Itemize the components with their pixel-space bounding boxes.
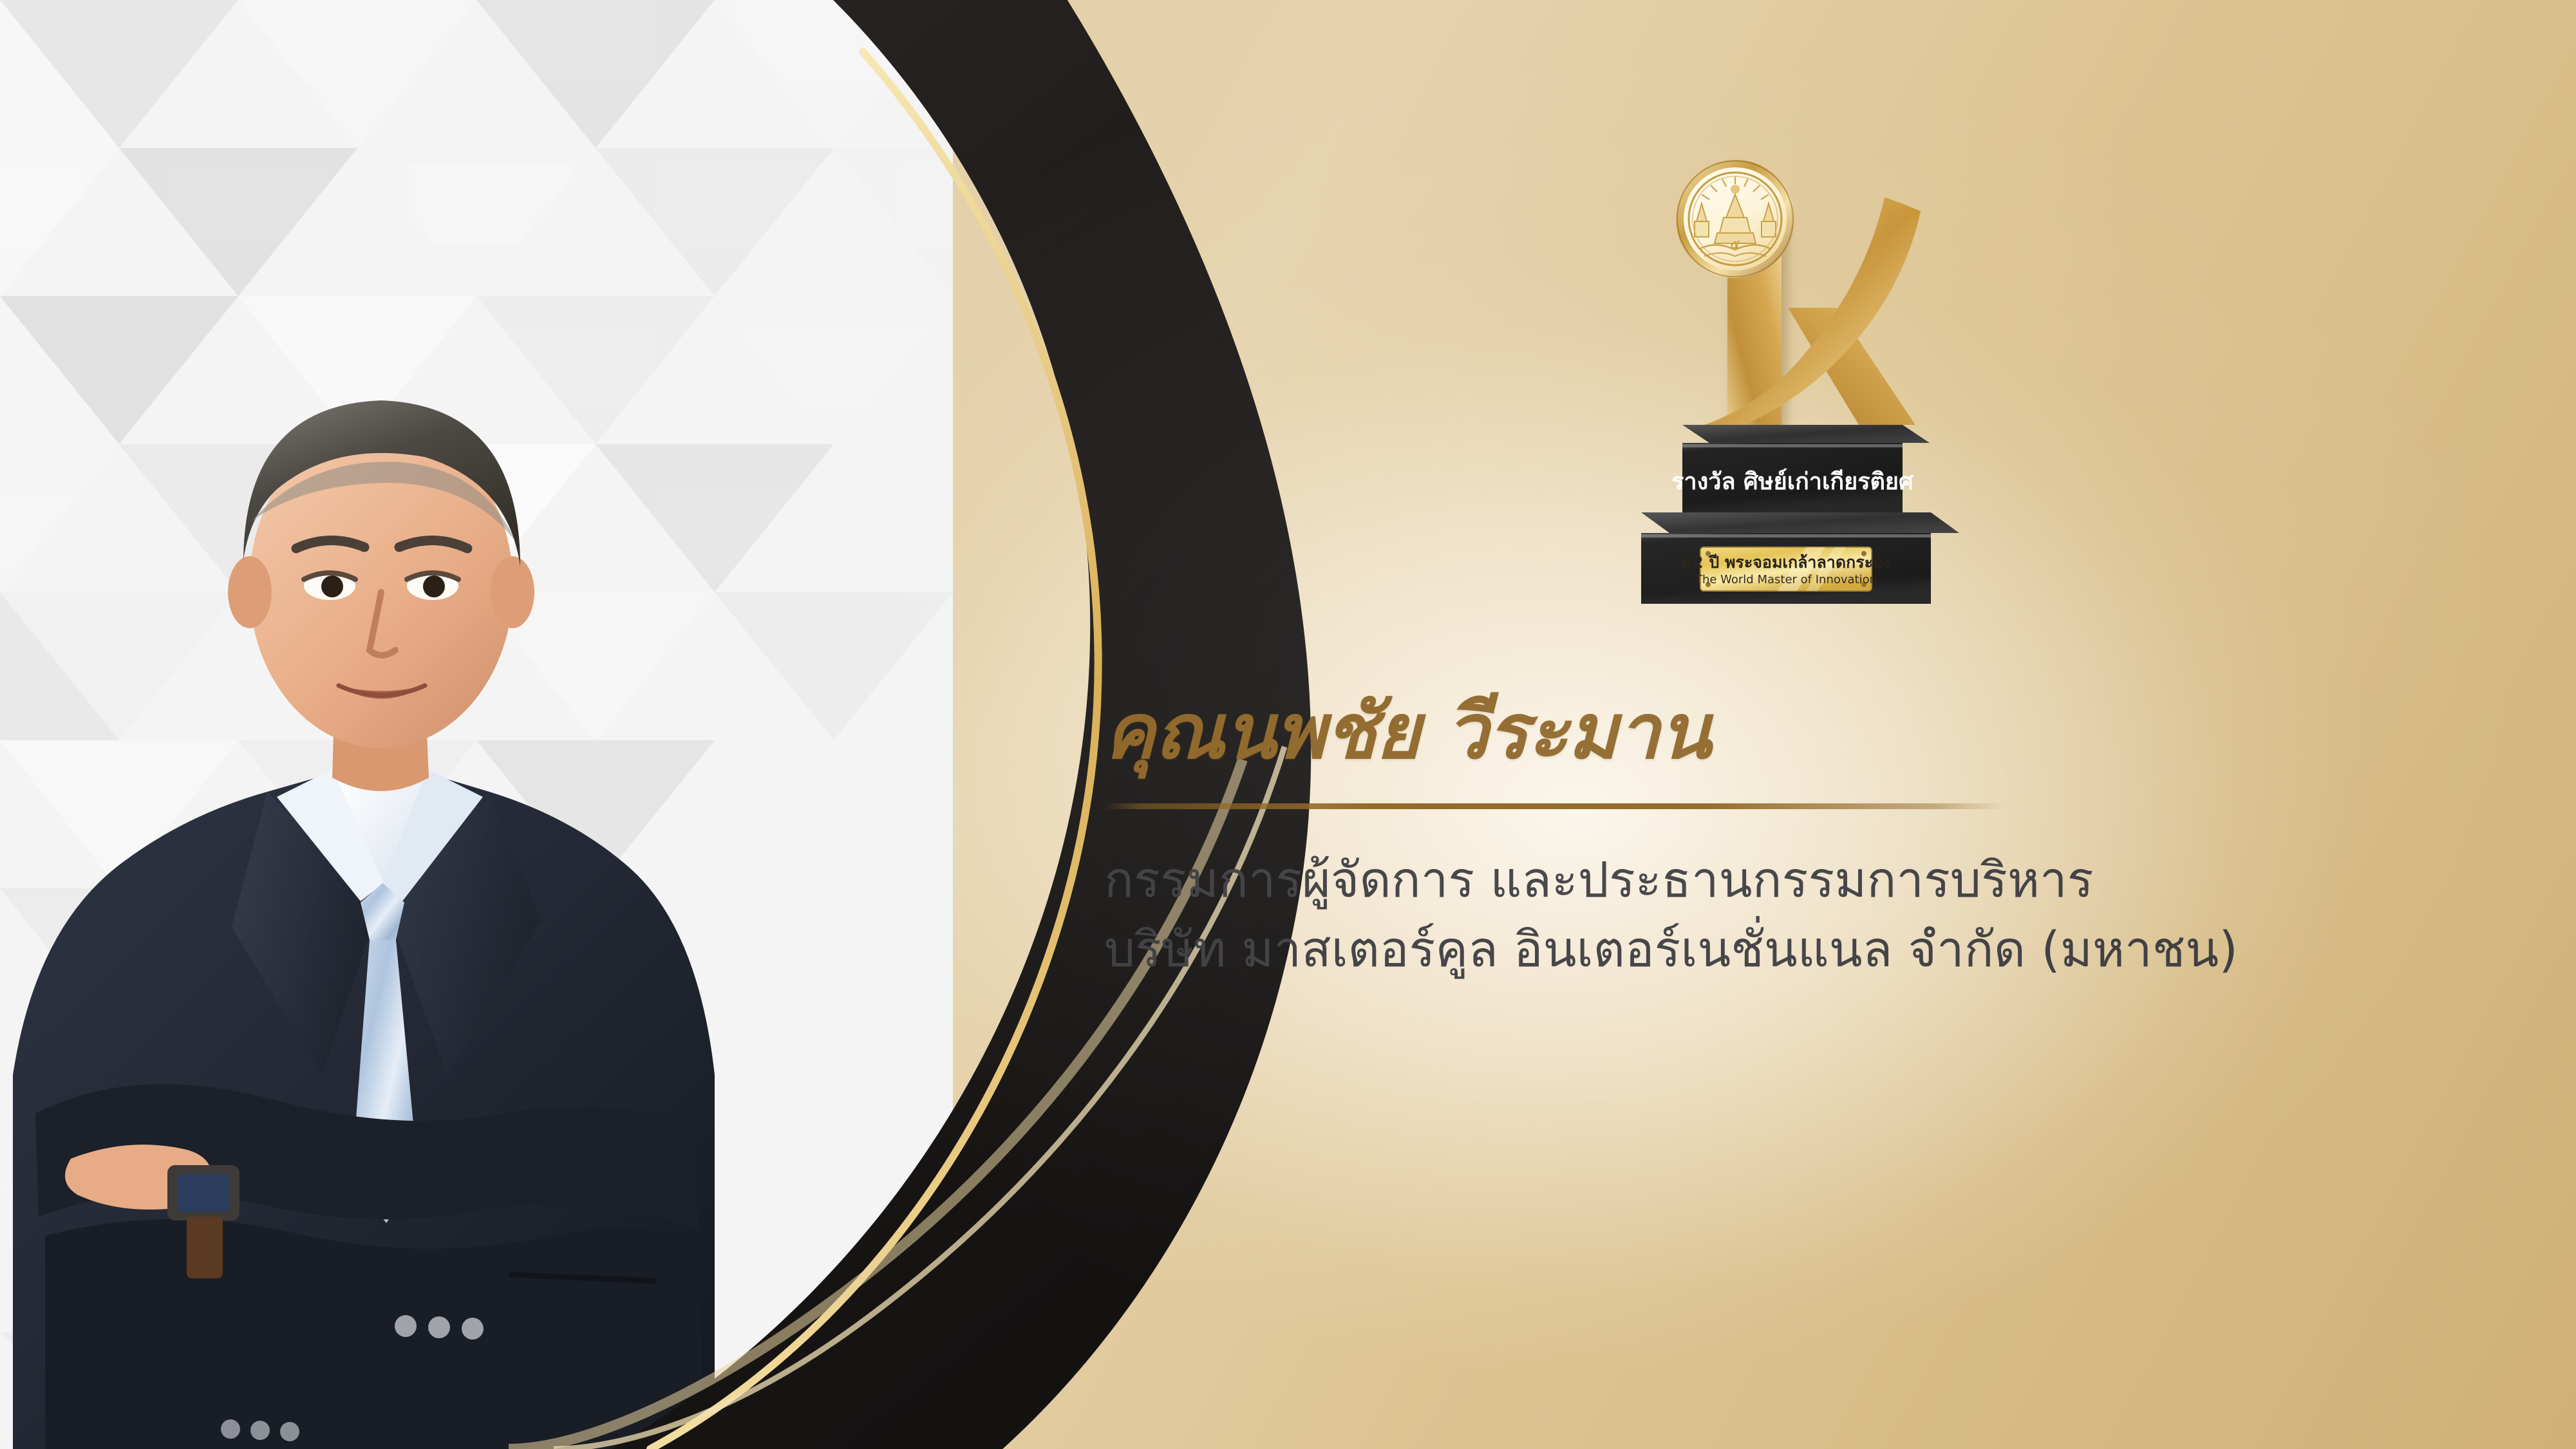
trophy-graphic: ๕ รางวัล ศิษย์เก่าเกียรติยศ 62 ปี [1613,154,2012,618]
person-name: คุณนพชัย วีระมาน [1104,689,2495,774]
name-plate: 62 ปี พระจอมเกล้าลาดกระบัง The World Mas… [1681,547,1891,591]
role-line-2: บริษัท มาสเตอร์คูล อินเตอร์เนชั่นแนล จำก… [1104,915,2495,984]
role-line-1: กรรมการผู้จัดการ และประธานกรรมการบริหาร [1104,845,2495,915]
plate-subtitle-text: The World Master of Innovation [1695,573,1877,586]
award-banner: ๕ รางวัล ศิษย์เก่าเกียรติยศ 62 ปี [0,0,2576,1449]
award-trophy: ๕ รางวัล ศิษย์เก่าเกียรติยศ 62 ปี [1613,154,2012,618]
base-top-lower [1641,512,1959,533]
base-top-upper [1682,425,1930,443]
person-illustration [0,71,721,1449]
plate-title-text: 62 ปี พระจอมเกล้าลาดกระบัง [1681,553,1891,572]
svg-text:๕: ๕ [1731,238,1740,252]
role-block: กรรมการผู้จัดการ และประธานกรรมการบริหาร … [1104,845,2495,984]
divider-line [1104,803,2006,809]
kmitl-royal-seal-icon: ๕ [1676,160,1794,278]
text-content-block: คุณนพชัย วีระมาน กรรมการผู้จัดการ และประ… [1104,689,2495,984]
award-title-text: รางวัล ศิษย์เก่าเกียรติยศ [1671,468,1914,495]
portrait-photo [0,71,721,1449]
